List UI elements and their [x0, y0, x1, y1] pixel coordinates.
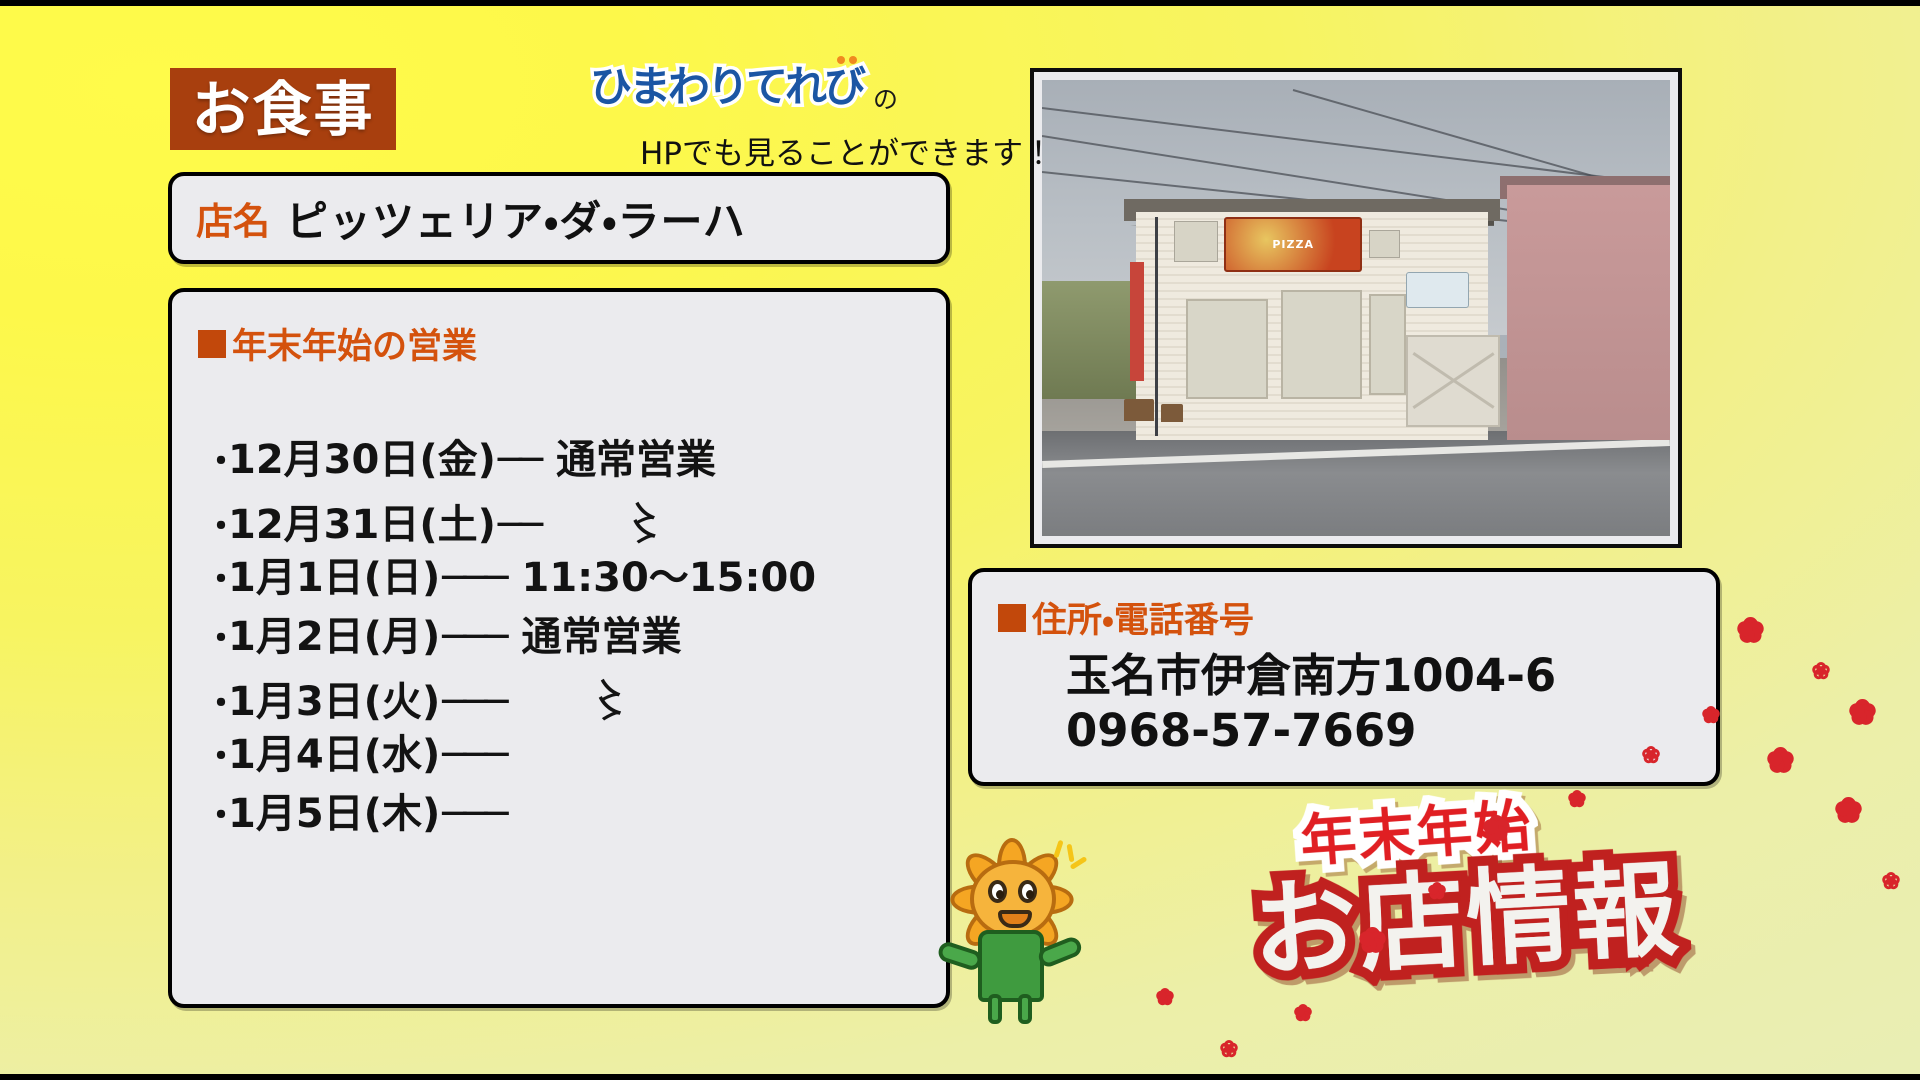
- mascot-body: [978, 930, 1044, 1002]
- schedule-value: 通常営業: [521, 604, 681, 662]
- square-bullet-icon: [198, 330, 226, 358]
- address-value: 玉名市伊倉南方1004-6: [1066, 649, 1716, 704]
- photo-planter: [1124, 399, 1154, 421]
- square-bullet-icon: [998, 604, 1026, 632]
- schedule-date: 1月4日(水): [228, 722, 440, 780]
- schedule-row: ・1月4日(水)───: [204, 722, 946, 781]
- logo-dots-icon: [837, 56, 857, 64]
- category-tag-badge: お食事: [170, 68, 396, 150]
- shop-name-value: ピッツェリア・ダ・ラーハ: [286, 188, 746, 249]
- shop-name-label: 店名: [196, 191, 270, 245]
- schedule-dash: ───: [442, 791, 505, 837]
- contact-section-heading-text: 住所・電話番号: [1032, 592, 1254, 643]
- photo-pizza-sign: PIZZA: [1224, 217, 1362, 272]
- schedule-dash: ──: [498, 437, 540, 483]
- photo-wall-sign: [1174, 221, 1218, 262]
- schedule-row: ・12月31日(土)──〻: [204, 486, 946, 545]
- mascot-arm-icon: [1036, 934, 1084, 969]
- station-logo: ひまわりてれび の: [590, 66, 898, 116]
- mascot-sparkle-icon: [1048, 840, 1082, 880]
- hours-section-heading-text: 年末年始の営業: [232, 318, 477, 369]
- schedule-dash: ──: [498, 502, 540, 548]
- decoration-subtitle-text: 年末年始: [1297, 781, 1534, 878]
- mascot-leg-icon: [988, 994, 1002, 1024]
- photo-pizza-sign-text: PIZZA: [1272, 238, 1314, 251]
- bullet-icon: ・: [204, 434, 228, 483]
- photo-pole: [1155, 217, 1158, 436]
- schedule-row: ・12月30日(金)──通常営業: [204, 427, 946, 486]
- station-logo-text: ひまわりてれび: [590, 62, 863, 111]
- plum-blossom-icon: [1564, 786, 1590, 812]
- schedule-ditto-icon: 〻: [622, 488, 668, 554]
- photo-road: [1042, 431, 1670, 536]
- schedule-dash: ───: [442, 679, 505, 725]
- plum-blossom-icon: [1152, 984, 1178, 1010]
- bullet-icon: ・: [204, 788, 228, 837]
- photo-planter: [1161, 404, 1183, 422]
- decoration-title-outline: お店情報: [1248, 824, 1683, 997]
- schedule-date: 12月30日(金): [228, 427, 496, 485]
- letterbox-top: [0, 0, 1920, 6]
- plum-blossom-icon: [1216, 1036, 1242, 1062]
- category-tag-label: お食事: [191, 80, 374, 139]
- hp-availability-note: HPでも見ることができます！: [640, 128, 1054, 173]
- photo-window: [1186, 299, 1268, 399]
- schedule-date: 12月31日(土): [228, 492, 496, 550]
- plum-blossom-icon: [1352, 920, 1392, 960]
- photo-window: [1369, 294, 1407, 394]
- hours-section-heading: 年末年始の営業: [198, 318, 946, 369]
- schedule-value: 通常営業: [556, 427, 716, 485]
- letterbox-bottom: [0, 1074, 1920, 1080]
- bullet-icon: ・: [204, 611, 228, 660]
- station-logo-wordmark: ひまわりてれび: [590, 66, 863, 108]
- schedule-dash: ───: [442, 614, 505, 660]
- plum-blossom-icon: [1828, 790, 1868, 830]
- plum-blossom-icon: [1842, 692, 1882, 732]
- contact-section-heading: 住所・電話番号: [998, 592, 1716, 643]
- schedule-date: 1月5日(木): [228, 781, 440, 839]
- schedule-row: ・1月2日(月)───通常営業: [204, 604, 946, 663]
- broadcast-telop-screen: お食事 ひまわりてれび の HPでも見ることができます！ 店名 ピッツェリア・ダ…: [0, 0, 1920, 1080]
- phone-value: 0968-57-7669: [1066, 704, 1716, 759]
- sunflower-mascot: [930, 834, 1110, 1044]
- mascot-mouth-icon: [998, 910, 1032, 928]
- plum-blossom-icon: [1476, 808, 1516, 848]
- bullet-icon: ・: [204, 552, 228, 601]
- photo-window: [1281, 290, 1363, 399]
- storefront-photo-frame: PIZZA: [1030, 68, 1682, 548]
- schedule-dash: ───: [442, 555, 505, 601]
- schedule-row: ・1月1日(日)───11:30〜15:00: [204, 545, 946, 604]
- shop-name-panel: 店名 ピッツェリア・ダ・ラーハ: [168, 172, 950, 264]
- plum-blossom-icon: [1808, 658, 1834, 684]
- bullet-icon: ・: [204, 729, 228, 778]
- bullet-icon: ・: [204, 676, 228, 725]
- schedule-list: ・12月30日(金)──通常営業・12月31日(土)──〻・1月1日(日)───…: [198, 427, 946, 840]
- contact-panel: 住所・電話番号 玉名市伊倉南方1004-6 0968-57-7669: [968, 568, 1720, 786]
- plum-blossom-icon: [1290, 1000, 1316, 1026]
- mascot-eye-icon: [988, 880, 1007, 903]
- schedule-date: 1月1日(日): [228, 545, 440, 603]
- plum-blossom-icon: [1424, 878, 1450, 904]
- photo-neighbor-building: [1507, 185, 1670, 440]
- mascot-eye-icon: [1018, 880, 1037, 903]
- photo-gelato-sign: [1406, 272, 1469, 308]
- plum-blossom-icon: [1760, 740, 1800, 780]
- schedule-value: 11:30〜15:00: [521, 545, 816, 603]
- photo-lattice-fence: [1406, 335, 1500, 426]
- schedule-ditto-icon: 〻: [587, 665, 633, 731]
- decoration-title-text: お店情報: [1248, 824, 1683, 997]
- schedule-date: 1月2日(月): [228, 604, 440, 662]
- photo-banner: [1130, 262, 1144, 381]
- schedule-date: 1月3日(火): [228, 669, 440, 727]
- photo-wall-sign: [1369, 230, 1400, 257]
- plum-blossom-icon: [1878, 868, 1904, 894]
- station-logo-suffix: の: [873, 80, 898, 116]
- storefront-photo: PIZZA: [1042, 80, 1670, 536]
- mascot-petals-icon: [948, 834, 1076, 962]
- plum-blossom-icon: [1730, 610, 1770, 650]
- photo-field: [1042, 281, 1142, 400]
- schedule-row: ・1月3日(火)───〻: [204, 663, 946, 722]
- schedule-row: ・1月5日(木)───: [204, 781, 946, 840]
- decoration-title: 年末年始 お店情報 お店情報: [1252, 808, 1772, 1008]
- bullet-icon: ・: [204, 499, 228, 548]
- business-hours-panel: 年末年始の営業 ・12月30日(金)──通常営業・12月31日(土)──〻・1月…: [168, 288, 950, 1008]
- mascot-face: [970, 860, 1056, 938]
- mascot-leg-icon: [1018, 994, 1032, 1024]
- schedule-dash: ───: [442, 732, 505, 778]
